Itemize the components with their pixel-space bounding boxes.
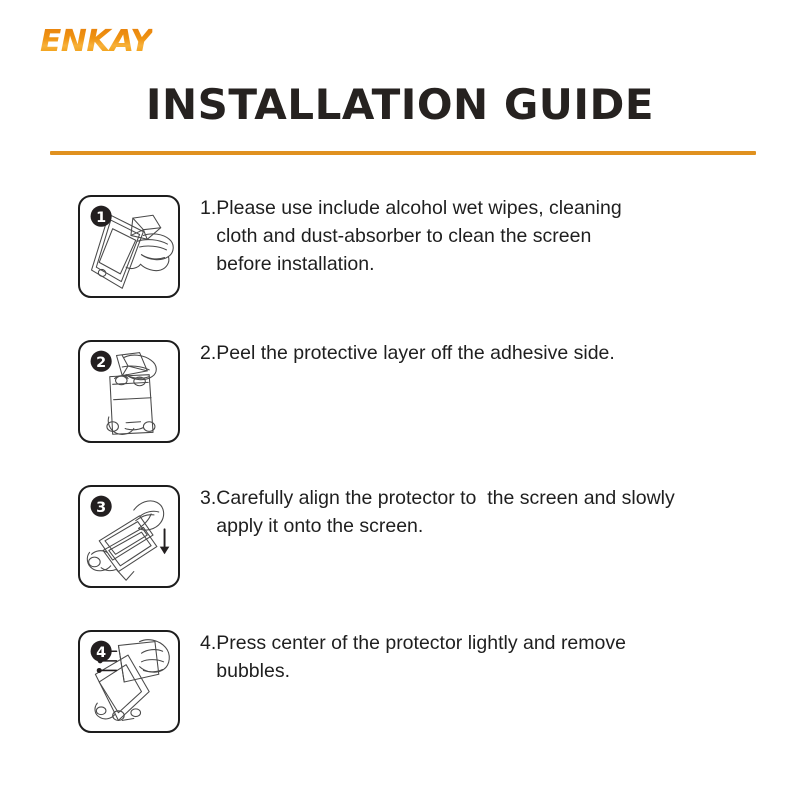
step-2-illustration: 2: [78, 340, 180, 443]
brand-logo: ENKAY: [40, 27, 152, 57]
step-3-badge-label: 3: [96, 500, 106, 516]
step-3-text: 3.Carefully align the protector to the s…: [200, 484, 780, 540]
page-title: INSTALLATION GUIDE: [0, 82, 800, 128]
installation-steps-list: 1 1.Please use include alcohol wet wipes…: [0, 186, 800, 766]
step-item-1: 1 1.Please use include alcohol wet wipes…: [0, 186, 800, 331]
title-divider: [50, 151, 756, 155]
step-1-text: 1.Please use include alcohol wet wipes, …: [200, 194, 760, 278]
step-1-badge-label: 1: [96, 210, 106, 226]
step-item-3: 3 3.Carefully align the protector to the…: [0, 476, 800, 621]
step-item-4: 4 4.Press center of the protector lightl…: [0, 621, 800, 766]
step-1-illustration: 1: [78, 195, 180, 298]
step-3-illustration: 3: [78, 485, 180, 588]
step-4-text: 4.Press center of the protector lightly …: [200, 629, 780, 685]
step-item-2: 2 2.Peel the protective layer off the ad…: [0, 331, 800, 476]
step-4-illustration: 4: [78, 630, 180, 733]
step-4-badge-label: 4: [96, 645, 106, 661]
step-2-badge-label: 2: [96, 355, 106, 371]
down-arrow-icon: [160, 529, 170, 554]
step-2-text: 2.Peel the protective layer off the adhe…: [200, 339, 760, 367]
